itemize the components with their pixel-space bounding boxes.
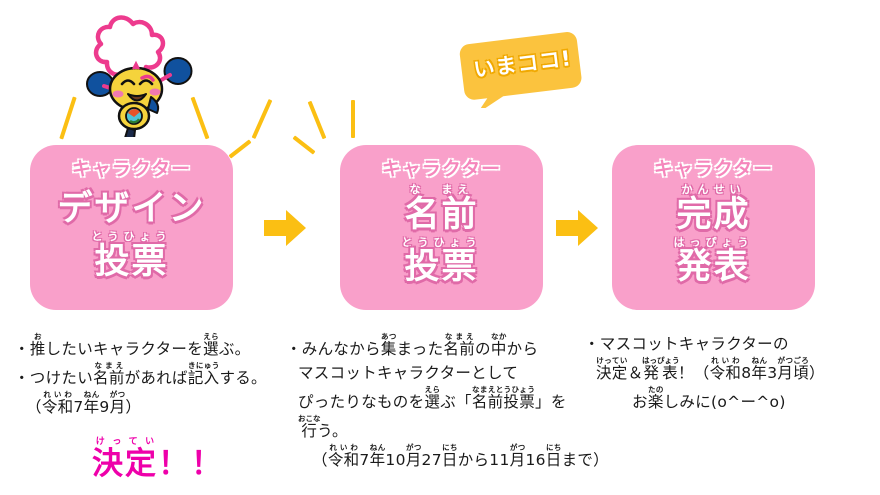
right-arrow-icon [264, 208, 306, 248]
infographic-canvas: いまココ! キャラクター デザイン とうひょう 投票 キャラクター な まえ 名… [0, 0, 880, 495]
sparkle-line-icon [293, 135, 316, 154]
step2-main-label-1: 名前 [340, 198, 543, 233]
pompom-right [165, 58, 192, 84]
step1-main-label-2: 投票 [30, 245, 233, 280]
caption-column-3: ・マスコットキャラクターの 決定けってい＆発表はっぴょう！（令和れいわ8年ねん3… [584, 332, 825, 414]
step1-main-label-1: デザイン [30, 192, 233, 227]
caption-2-line-2: マスコットキャラクターとして [286, 361, 609, 385]
caption-1-line-2: ・つけたい名前なまえがあれば記入きにゅうする。 [14, 361, 267, 390]
step2-kana-label: キャラクター [340, 159, 543, 180]
right-arrow-icon [556, 208, 598, 248]
caption-1-line-3: （令和れいわ7年ねん9月がつ） [14, 390, 267, 419]
step3-kana-label: キャラクター [612, 159, 815, 180]
caption-2-line-1: ・みんなから集あつまった名前なまえの中なかから [286, 332, 609, 361]
caption-3-line-3: お楽たのしみに(o^ー^o) [584, 385, 825, 414]
caption-column-1: ・推おしたいキャラクターを選えらぶ。 ・つけたい名前なまえがあれば記入きにゅうす… [14, 332, 267, 419]
step-box-character-name-vote[interactable]: キャラクター な まえ 名前 とうひょう 投票 [340, 145, 543, 310]
sparkle-line-icon [59, 96, 76, 139]
step-box-character-design-vote[interactable]: キャラクター デザイン とうひょう 投票 [30, 145, 233, 310]
sparkle-line-icon [229, 139, 252, 158]
caption-3-line-1: ・マスコットキャラクターの [584, 332, 825, 356]
caption-3-line-2: 決定けってい＆発表はっぴょう！（令和れいわ8年ねん3月頃がつごろ） [584, 356, 825, 385]
step-box-character-completion-announcement[interactable]: キャラクター かんせい 完成 はっぴょう 発表 [612, 145, 815, 310]
caption-2-line-5: （令和れいわ7年ねん10月がつ27日にちから11月がつ16日にちまで） [286, 443, 609, 472]
caption-1-line-1: ・推おしたいキャラクターを選えらぶ。 [14, 332, 267, 361]
caption-2-line-4: 行おこなう。 [286, 414, 609, 443]
step3-main-label-1: 完成 [612, 198, 815, 233]
step3-main-label-2: 発表 [612, 250, 815, 285]
caption-2-line-3: ぴったりなものを選えらぶ「名前投票なまえとうひょう」を [286, 385, 609, 414]
caption-column-2: ・みんなから集あつまった名前なまえの中なかから マスコットキャラクターとして ぴ… [286, 332, 609, 472]
step2-main-label-2: 投票 [340, 250, 543, 285]
sparkle-line-icon [351, 100, 355, 138]
step1-kana-label: キャラクター [30, 159, 233, 180]
current-step-callout-bubble [458, 30, 583, 108]
sparkle-line-icon [308, 101, 327, 140]
mascot-character-illustration [78, 12, 198, 137]
sparkle-line-icon [252, 99, 273, 139]
decision-highlight-text: 決定けってい！！ [92, 437, 224, 483]
